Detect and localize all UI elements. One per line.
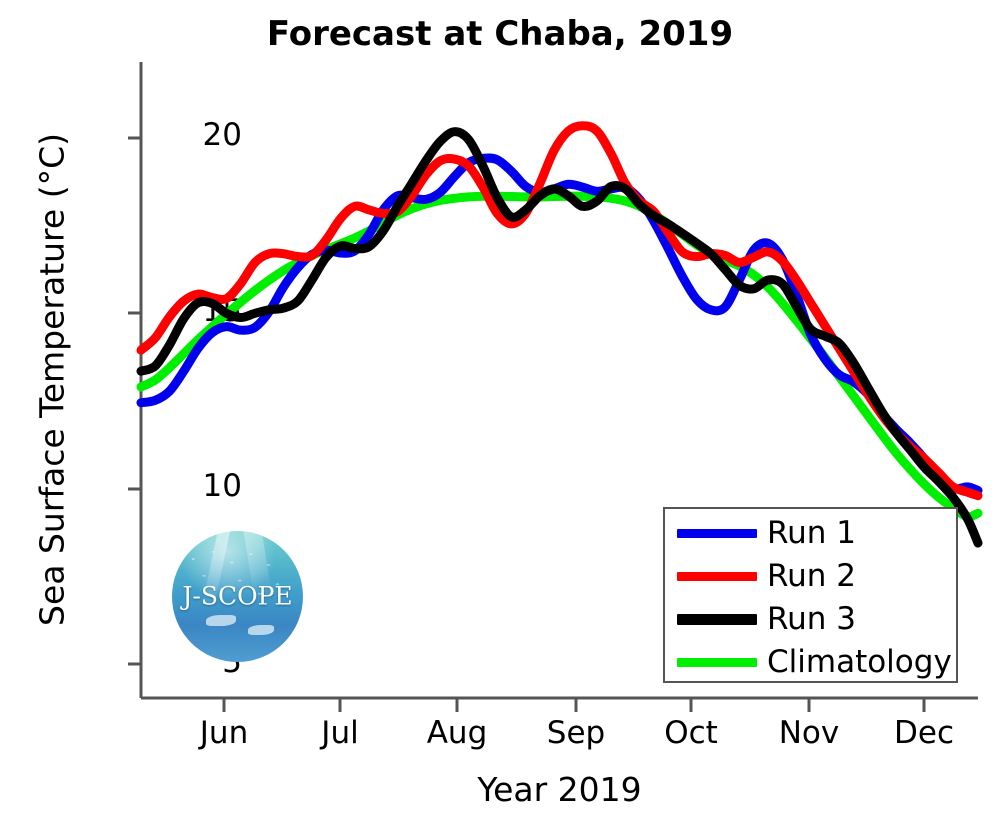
legend-item-climatology[interactable]: Climatology [665, 640, 956, 684]
legend-label-run-3: Run 3 [767, 604, 856, 635]
fish-icon-2 [248, 625, 274, 635]
series-line-run-3 [141, 132, 978, 543]
legend-swatch-run-3 [677, 614, 757, 625]
logo-text: J-SCOPE [172, 581, 303, 610]
legend-item-run-1[interactable]: Run 1 [665, 511, 956, 555]
legend-swatch-climatology [677, 658, 757, 667]
legend-label-run-1: Run 1 [767, 518, 856, 549]
legend-label-climatology: Climatology [767, 647, 952, 678]
legend-swatch-run-2 [677, 572, 757, 581]
legend-item-run-2[interactable]: Run 2 [665, 554, 956, 598]
chart-legend: Run 1 Run 2 Run 3 Climatology [663, 507, 958, 683]
x-axis-ticks [224, 698, 924, 712]
fish-icon-1 [206, 615, 236, 626]
series-line-run-1 [141, 158, 978, 490]
legend-item-run-3[interactable]: Run 3 [665, 597, 956, 641]
j-scope-logo: J-SCOPE [172, 531, 303, 662]
legend-label-run-2: Run 2 [767, 561, 856, 592]
chart-figure: Forecast at Chaba, 2019 Sea Surface Temp… [0, 0, 1000, 826]
plot-area [0, 0, 1000, 826]
legend-swatch-run-1 [677, 529, 757, 538]
